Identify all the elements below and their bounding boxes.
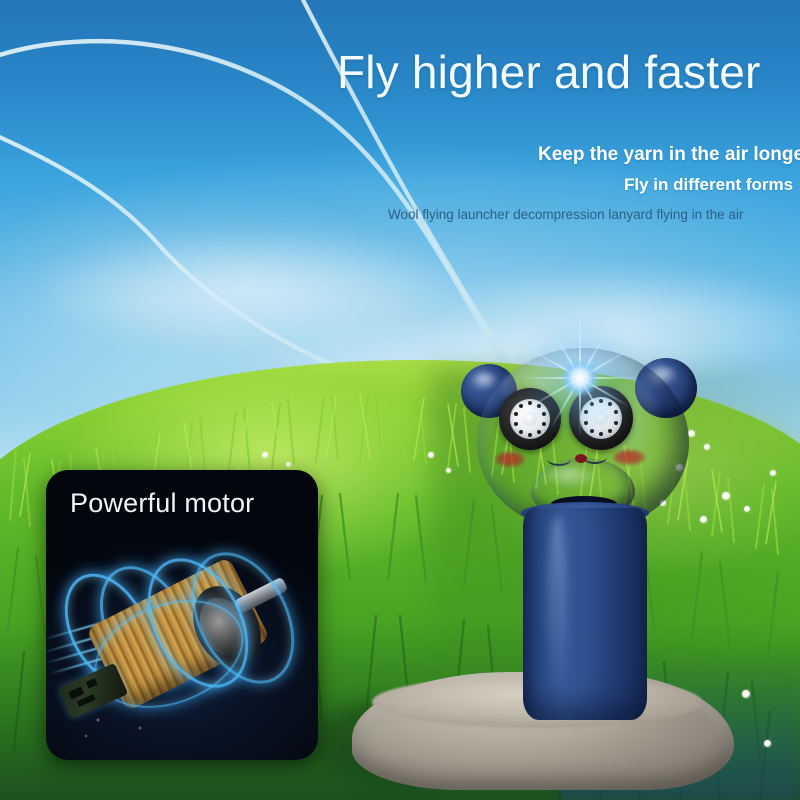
feature-panel-title: Powerful motor [70, 488, 254, 519]
left-ear-gloss [471, 372, 499, 390]
pcb-chip [77, 694, 96, 707]
bear-launcher-toy[interactable] [455, 330, 715, 750]
daisy-flower [262, 452, 268, 458]
pcb-chip [86, 678, 98, 688]
brushless-motor-icon [46, 526, 318, 760]
subheading-2: Fly in different forms [624, 175, 793, 195]
left-cheek-blush [495, 452, 525, 467]
daisy-flower [428, 452, 434, 458]
right-cheek-blush [613, 450, 645, 465]
daisy-flower [722, 492, 730, 500]
subheading-1: Keep the yarn in the air longer [538, 144, 800, 166]
daisy-flower [742, 690, 750, 698]
page-title: Fly higher and faster [337, 45, 761, 99]
advertisement-canvas: Fly higher and faster Keep the yarn in t… [0, 0, 800, 800]
pcb-chip [68, 686, 84, 699]
handle-highlight [547, 516, 567, 696]
daisy-flower [770, 470, 776, 476]
product-caption: Wool flying launcher decompression lanya… [388, 207, 743, 222]
toy-handle[interactable] [523, 508, 647, 720]
daisy-flower [744, 506, 750, 512]
feature-panel-powerful-motor[interactable]: Powerful motor [46, 470, 318, 760]
daisy-flower [764, 740, 771, 747]
light-sparkle-icon [510, 308, 650, 448]
daisy-flower [446, 468, 451, 473]
bear-nose [575, 454, 587, 463]
flare-core [562, 360, 598, 396]
daisy-flower [286, 462, 291, 467]
snout-highlight [547, 466, 595, 488]
